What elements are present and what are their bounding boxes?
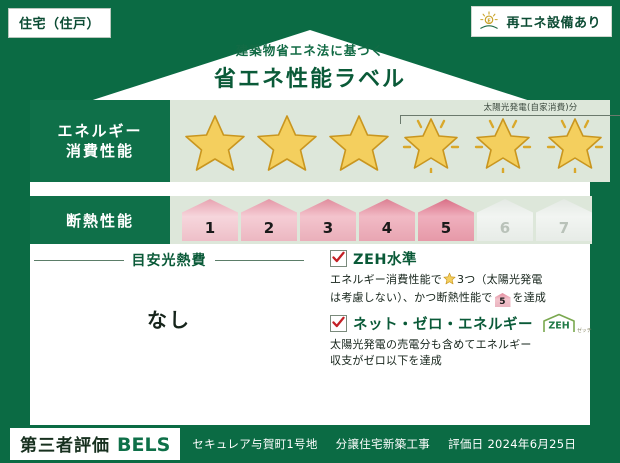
sun-icon: E <box>478 11 500 31</box>
grade-marker-inactive: 7 <box>536 199 592 241</box>
energy-performance-body: 太陽光発電(自家消費)分 <box>170 100 610 182</box>
dwelling-type-tag: 住宅（住戸） <box>8 8 111 38</box>
grade-marker: 4 <box>359 199 415 241</box>
project-type: 分譲住宅新築工事 <box>336 436 430 452</box>
zeh-standard-description: エネルギー消費性能で3つ（太陽光発電 は考慮しない）、かつ断熱性能で5を達成 <box>330 272 592 307</box>
zeh-standard-head: ZEH水準 <box>330 248 592 269</box>
bels-en-label: BELS <box>117 434 170 456</box>
bels-jp-label: 第三者評価 <box>20 431 110 456</box>
net-zero-energy-head: ネット・ゼロ・エネルギー ZEH ゼッチ <box>330 313 592 334</box>
checkbox-checked-icon <box>330 250 347 267</box>
utility-cost-block: 目安光熱費 なし <box>34 250 304 333</box>
solar-annotation-bracket <box>400 115 620 124</box>
checkbox-checked-icon <box>330 315 347 332</box>
energy-label-root: 住宅（住戸） E 再エネ設備あり 建築物省エネ法に基づく 省エネ性能ラベル <box>0 0 620 463</box>
net-zero-energy-description: 太陽光発電の売電分も含めてエネルギー 収支がゼロ以下を達成 <box>330 337 592 369</box>
title-subtitle: 建築物省エネ法に基づく <box>0 40 620 59</box>
page-title: 省エネ性能ラベル <box>0 61 620 93</box>
grade-marker-inline: 5 <box>495 293 511 307</box>
insulation-performance-body: 1 2 3 4 5 6 7 <box>170 196 592 244</box>
grade-marker-achieved: 5 <box>418 199 474 241</box>
star-icon <box>180 109 250 173</box>
zeh-logo: ZEH ゼッチ <box>542 313 591 334</box>
renewable-equipment-badge: E 再エネ設備あり <box>471 6 612 37</box>
grade-marker-inactive: 6 <box>477 199 533 241</box>
insulation-performance-row: 断熱性能 1 2 3 4 5 6 7 <box>30 196 590 244</box>
rule-right <box>215 260 305 261</box>
solar-annotation-label: 太陽光発電(自家消費)分 <box>398 101 620 113</box>
svg-text:E: E <box>488 18 491 24</box>
footer-meta: セキュレア与賀町1号地 分譲住宅新築工事 評価日 2024年6月25日 <box>192 436 576 452</box>
energy-performance-row: エネルギー 消費性能 太陽光発電(自家消費)分 <box>30 100 590 182</box>
utility-cost-value: なし <box>34 304 304 333</box>
title-block: 建築物省エネ法に基づく 省エネ性能ラベル <box>0 40 620 93</box>
evaluation-date-value: 2024年6月25日 <box>487 437 576 451</box>
evaluation-date-label: 評価日 <box>448 437 483 451</box>
insulation-grade-scale: 1 2 3 4 5 6 7 <box>182 199 592 241</box>
zeh-logo-subtext: ゼッチ <box>577 327 591 334</box>
insulation-performance-label: 断熱性能 <box>30 196 170 244</box>
utility-cost-heading-label: 目安光熱費 <box>132 250 207 270</box>
utility-cost-heading: 目安光熱費 <box>34 250 304 270</box>
zeh-standard-title: ZEH水準 <box>353 248 417 269</box>
net-zero-energy-title: ネット・ゼロ・エネルギー <box>353 313 533 334</box>
footer-bar: 第三者評価 BELS セキュレア与賀町1号地 分譲住宅新築工事 評価日 2024… <box>0 425 620 463</box>
svg-text:ZEH: ZEH <box>548 320 569 331</box>
rule-left <box>34 260 124 261</box>
project-name: セキュレア与賀町1号地 <box>192 436 317 452</box>
grade-marker: 3 <box>300 199 356 241</box>
energy-performance-label: エネルギー 消費性能 <box>30 100 170 182</box>
star-icon <box>252 109 322 173</box>
star-icon-inline <box>443 272 456 290</box>
grade-marker: 2 <box>241 199 297 241</box>
star-icon <box>324 109 394 173</box>
zeh-standard-item: ZEH水準 エネルギー消費性能で3つ（太陽光発電 は考慮しない）、かつ断熱性能で… <box>330 248 592 307</box>
zeh-criteria-block: ZEH水準 エネルギー消費性能で3つ（太陽光発電 は考慮しない）、かつ断熱性能で… <box>330 248 592 375</box>
renewable-badge-label: 再エネ設備あり <box>506 12 601 31</box>
bels-logo-box: 第三者評価 BELS <box>10 428 180 460</box>
grade-marker: 1 <box>182 199 238 241</box>
net-zero-energy-item: ネット・ゼロ・エネルギー ZEH ゼッチ 太陽光発電の売電分も含めてエネルギー … <box>330 313 592 369</box>
evaluation-date: 評価日 2024年6月25日 <box>448 436 576 452</box>
